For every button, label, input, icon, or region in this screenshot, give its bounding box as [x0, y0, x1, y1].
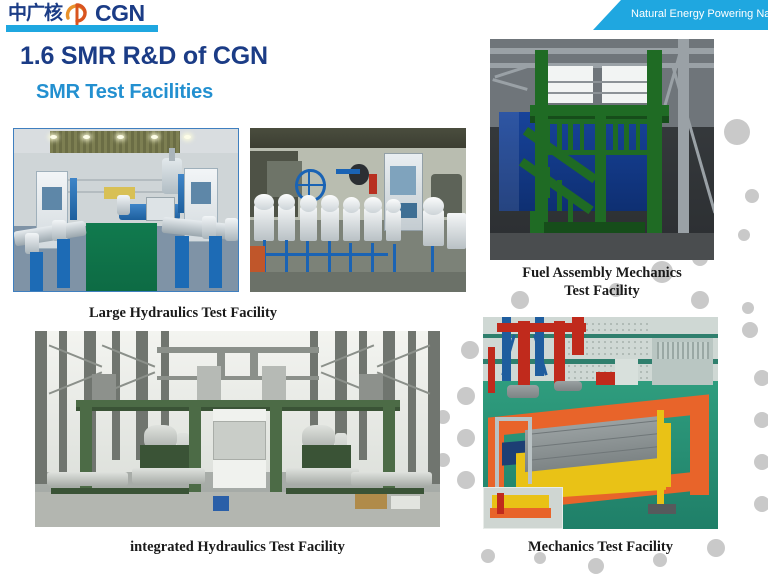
decorative-dot — [457, 471, 475, 489]
header-accent-bar — [6, 25, 158, 32]
scene-integrated-hydraulics — [35, 331, 440, 527]
figure-integrated-hydraulics-caption: integrated Hydraulics Test Facility — [35, 538, 440, 556]
scene-valve-manifold — [250, 128, 466, 292]
decorative-dot — [457, 387, 475, 405]
decorative-dot — [457, 429, 475, 447]
figure-large-hydraulics-caption: Large Hydraulics Test Facility — [13, 304, 353, 322]
decorative-dot — [754, 454, 768, 470]
figure-fuel-assembly-image[interactable] — [490, 39, 714, 260]
decorative-dot — [588, 558, 604, 574]
scene-large-hydraulics — [14, 129, 238, 291]
page-title: 1.6 SMR R&D of CGN — [20, 42, 268, 71]
header-tagline-banner: Natural Energy Powering Na — [593, 0, 768, 30]
figure-mechanics-test-caption: Mechanics Test Facility — [483, 538, 718, 556]
decorative-dot — [745, 189, 759, 203]
page-subtitle: SMR Test Facilities — [36, 81, 213, 104]
decorative-dot — [754, 370, 768, 386]
decorative-dot — [738, 229, 750, 241]
figure-valve-manifold-image[interactable] — [250, 128, 466, 292]
decorative-dot — [754, 496, 768, 512]
cgn-logo[interactable]: 中广核 CGN — [8, 1, 145, 25]
figure-mechanics-test-image[interactable] — [483, 317, 718, 529]
figure-integrated-hydraulics-image[interactable] — [35, 331, 440, 527]
decorative-dot — [724, 119, 750, 145]
header-tagline-text: Natural Energy Powering Na — [631, 8, 768, 20]
decorative-dot — [754, 412, 768, 428]
logo-chinese-text: 中广核 — [8, 4, 62, 23]
logo-cgn-text: CGN — [95, 2, 145, 25]
figure-large-hydraulics-image[interactable] — [13, 128, 239, 292]
slide-header: 中广核 CGN Natural Energy Powering Na — [0, 0, 768, 34]
scene-mechanics-shake-table — [483, 317, 718, 529]
decorative-dot — [742, 302, 754, 314]
decorative-dot — [461, 341, 479, 359]
slide: 中广核 CGN Natural Energy Powering Na 1.6 S… — [0, 0, 768, 574]
figure-fuel-assembly-caption-line2: Test Facility — [490, 282, 714, 300]
figure-fuel-assembly-caption: Fuel Assembly Mechanics Test Facility — [490, 264, 714, 300]
cgn-swoosh-icon — [64, 1, 94, 25]
figure-fuel-assembly-caption-line1: Fuel Assembly Mechanics — [490, 264, 714, 282]
scene-fuel-assembly-platform — [490, 39, 714, 260]
decorative-dot — [742, 322, 758, 338]
